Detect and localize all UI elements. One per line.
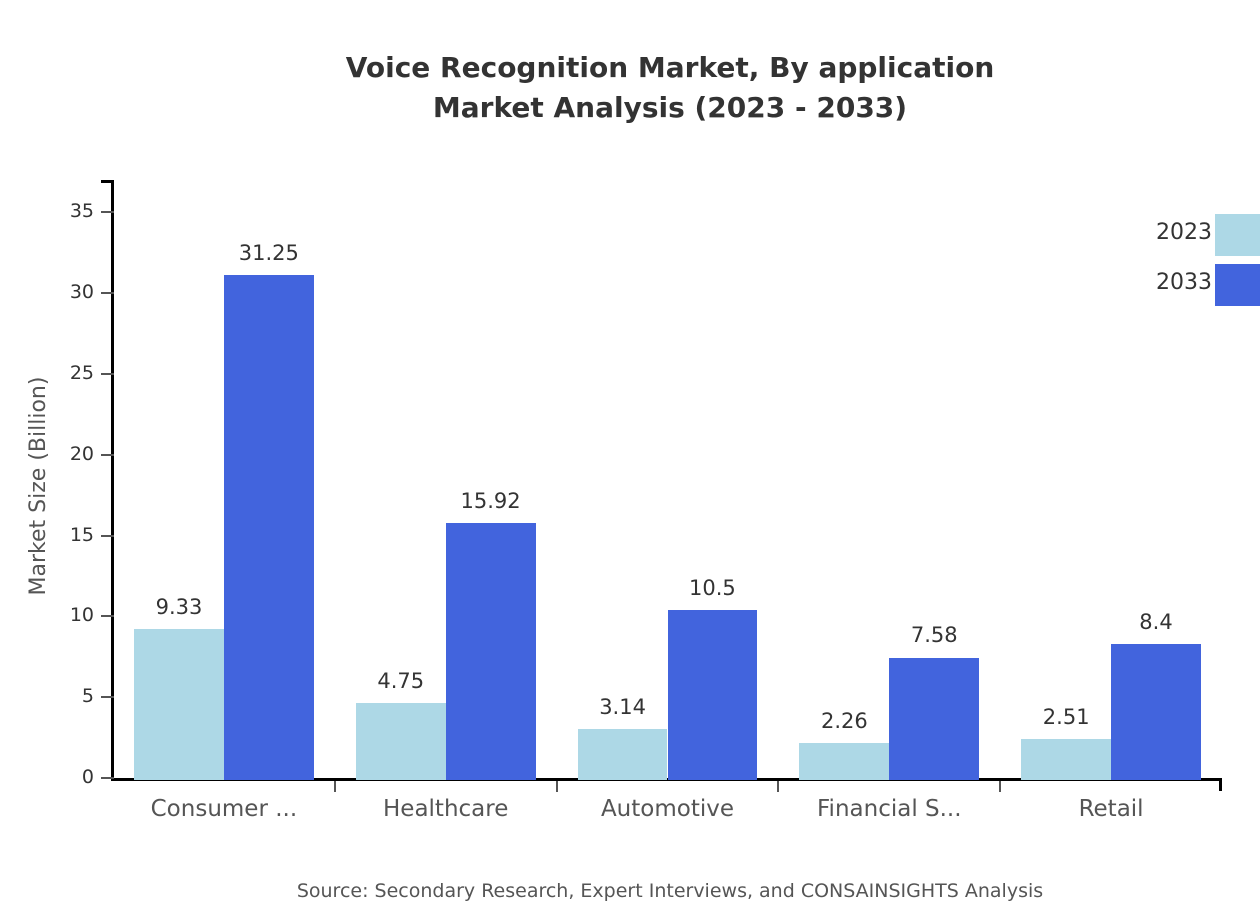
- bar-2033-2[interactable]: [446, 523, 536, 780]
- legend-swatch: [1215, 214, 1260, 256]
- y-axis-tick-label: 10: [34, 606, 94, 625]
- plot-area: 9.334.753.142.262.5131.2515.9210.57.588.…: [113, 180, 1222, 780]
- x-axis-tick: [556, 781, 558, 792]
- bar-2023-4[interactable]: [799, 743, 889, 780]
- x-axis-tick: [999, 781, 1001, 792]
- legend-item-2023[interactable]: 2023: [1075, 214, 1260, 256]
- bar-2033-1[interactable]: [224, 275, 314, 780]
- x-axis-tick: [777, 781, 779, 792]
- chart-title: Voice Recognition Market, By application…: [0, 48, 1260, 128]
- legend-label: 2023: [1156, 220, 1212, 246]
- source-note: Source: Secondary Research, Expert Inter…: [0, 878, 1260, 904]
- bar-2033-3[interactable]: [668, 610, 758, 780]
- y-axis-tick-label: 20: [34, 445, 94, 464]
- bar-value-label: 7.58: [869, 625, 999, 646]
- bar-value-label: 31.25: [204, 243, 334, 264]
- y-axis-tick-label: 5: [34, 687, 94, 706]
- bar-value-label: 10.5: [648, 578, 778, 599]
- bar-2033-4[interactable]: [889, 658, 979, 781]
- x-axis-tick: [334, 781, 336, 792]
- y-axis-tick-label: 25: [34, 364, 94, 383]
- bar-2023-2[interactable]: [356, 703, 446, 780]
- x-axis-category-label: Consumer ...: [113, 795, 335, 823]
- y-axis-tick-label: 35: [34, 202, 94, 221]
- x-axis-category-label: Automotive: [557, 795, 779, 823]
- chart-title-line-2: Market Analysis (2023 - 2033): [0, 88, 1260, 128]
- bar-2023-5[interactable]: [1021, 739, 1111, 780]
- x-axis-category-label: Retail: [1000, 795, 1222, 823]
- bar-2023-1[interactable]: [134, 629, 224, 780]
- y-axis-tick-label: 0: [34, 768, 94, 787]
- y-axis-tick-label: 15: [34, 526, 94, 545]
- legend-label: 2033: [1156, 270, 1212, 296]
- x-axis-category-label: Healthcare: [335, 795, 557, 823]
- y-axis-tick-label: 30: [34, 283, 94, 302]
- bar-value-label: 15.92: [426, 491, 556, 512]
- legend-item-2033[interactable]: 2033: [1075, 264, 1260, 306]
- bar-value-label: 8.4: [1091, 612, 1221, 633]
- bar-2033-5[interactable]: [1111, 644, 1201, 780]
- bar-2023-3[interactable]: [578, 729, 668, 780]
- legend-swatch: [1215, 264, 1260, 306]
- x-axis-category-label: Financial S...: [778, 795, 1000, 823]
- chart-legend: 20232033: [1075, 214, 1260, 310]
- chart-title-line-1: Voice Recognition Market, By application: [0, 48, 1260, 88]
